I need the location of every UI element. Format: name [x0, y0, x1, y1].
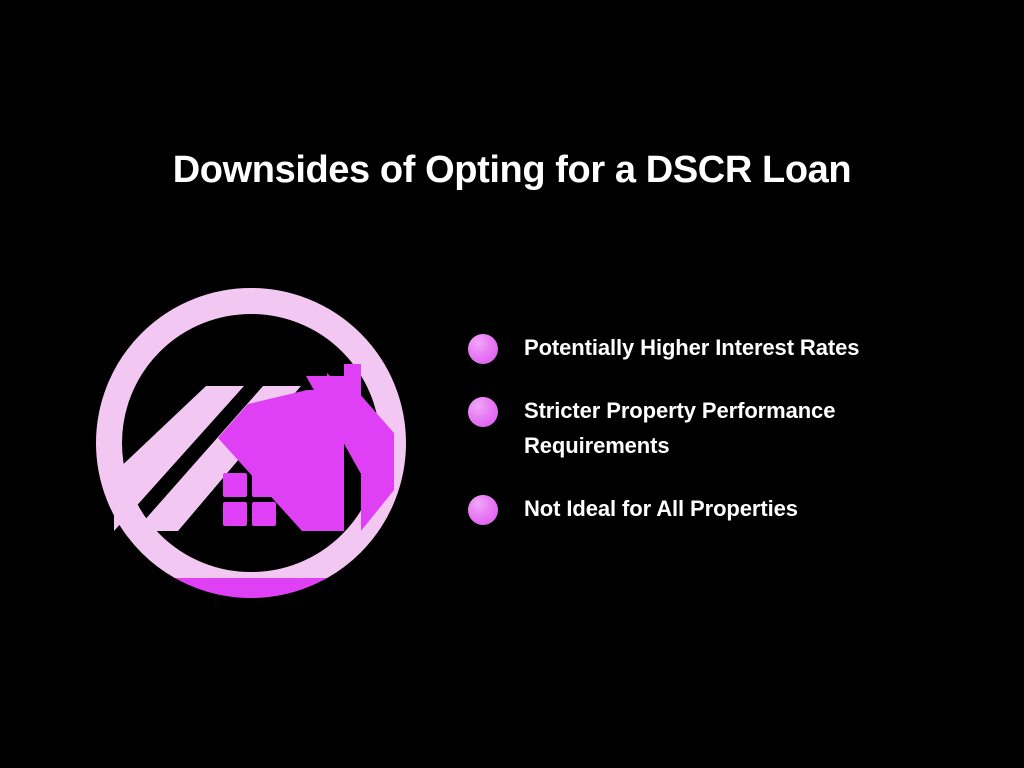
logo-svg	[78, 278, 424, 608]
bullet-dot-icon	[468, 495, 498, 525]
chimney	[327, 364, 361, 408]
downsides-bullet-list: Potentially Higher Interest Rates Strict…	[468, 330, 968, 526]
list-item-label: Not Ideal for All Properties	[524, 491, 798, 526]
list-item: Stricter Property Performance Requiremen…	[468, 393, 968, 463]
bullet-dot-icon	[468, 397, 498, 427]
list-item: Potentially Higher Interest Rates	[468, 330, 968, 365]
page-title: Downsides of Opting for a DSCR Loan	[0, 146, 1024, 194]
list-item: Not Ideal for All Properties	[468, 491, 968, 526]
slide-canvas: Downsides of Opting for a DSCR Loan	[0, 0, 1024, 768]
list-item-label: Stricter Property Performance Requiremen…	[524, 393, 964, 463]
bullet-dot-icon	[468, 334, 498, 364]
house-in-circle-logo	[78, 278, 424, 608]
window-four-panes	[223, 473, 276, 526]
list-item-label: Potentially Higher Interest Rates	[524, 330, 859, 365]
